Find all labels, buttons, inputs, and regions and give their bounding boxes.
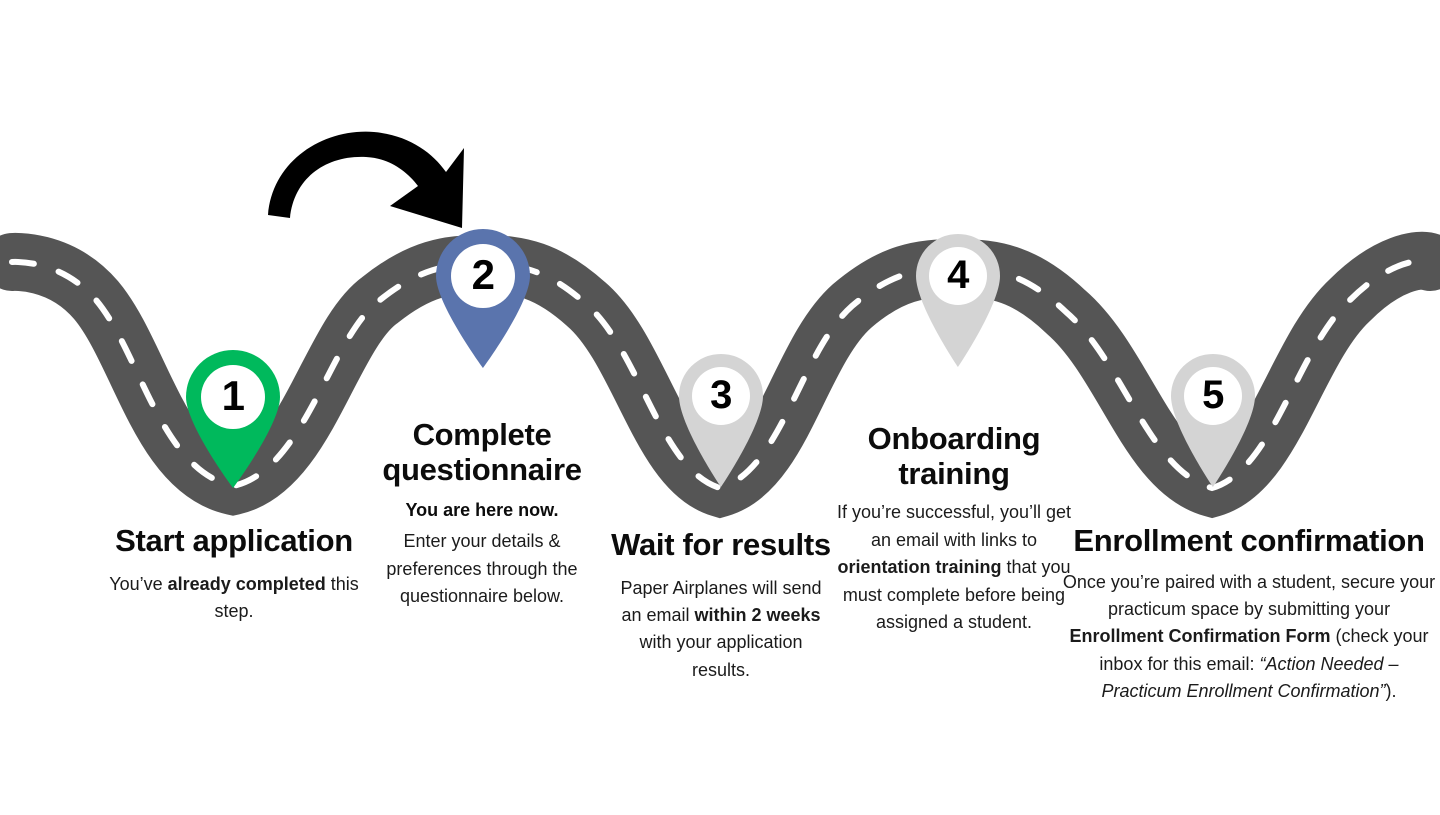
map-pin-step-4[interactable]: 4	[910, 228, 1006, 369]
step-2-block: Complete questionnaire You are here now.…	[368, 418, 596, 611]
step-3-body: Paper Airplanes will send an email withi…	[608, 575, 834, 684]
step-4-body: If you’re successful, you’ll get an emai…	[836, 499, 1072, 636]
step-1-body: You’ve already completed this step.	[104, 571, 364, 626]
step-2-body: Enter your details & preferences through…	[368, 528, 596, 610]
map-pin-step-2[interactable]: 2	[429, 225, 537, 370]
step-2-here-note: You are here now.	[368, 497, 596, 524]
map-pin-step-5[interactable]: 5	[1165, 348, 1261, 489]
step-1-block: Start application You’ve already complet…	[60, 524, 408, 625]
curved-arrow-icon	[250, 110, 480, 240]
step-4-block: Onboarding training If you’re successful…	[836, 422, 1072, 636]
step-5-block: Enrollment confirmation Once you’re pair…	[1060, 524, 1438, 706]
step-3-title: Wait for results	[608, 528, 834, 563]
map-pin-step-3[interactable]: 3	[673, 348, 769, 489]
roadmap-infographic: 1 2 3 4 5 Start application Yo	[0, 0, 1440, 810]
map-pin-step-1[interactable]: 1	[180, 347, 286, 490]
step-1-title: Start application	[60, 524, 408, 559]
step-5-title: Enrollment confirmation	[1060, 524, 1438, 559]
pin-number-2: 2	[429, 254, 537, 296]
step-3-block: Wait for results Paper Airplanes will se…	[608, 528, 834, 684]
pin-number-5: 5	[1165, 375, 1261, 415]
pin-number-1: 1	[180, 375, 286, 417]
pin-number-3: 3	[673, 375, 769, 415]
step-2-title: Complete questionnaire	[368, 418, 596, 487]
pin-number-4: 4	[910, 255, 1006, 295]
step-5-body: Once you’re paired with a student, secur…	[1060, 569, 1438, 706]
step-4-title: Onboarding training	[836, 422, 1072, 491]
